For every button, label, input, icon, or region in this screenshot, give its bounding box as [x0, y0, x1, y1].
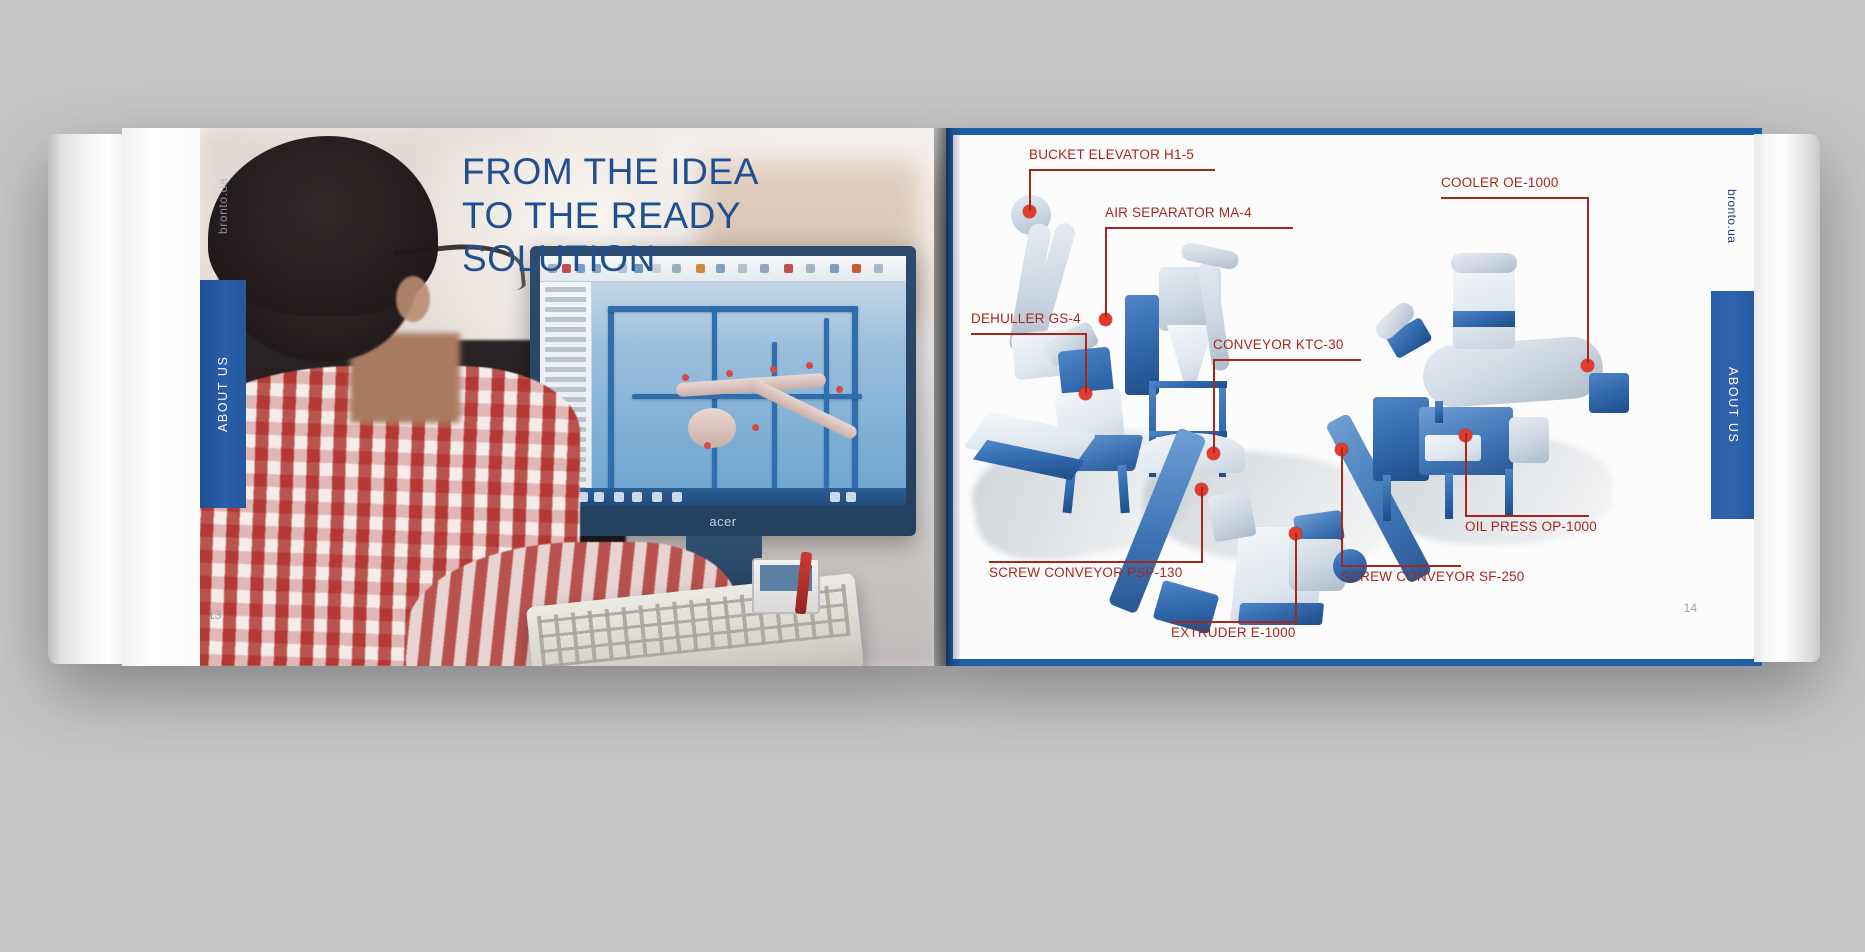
workstation-photo: acer FROM THE ID: [200, 128, 934, 666]
label-screw-conveyor-psp: SCREW CONVEYOR PSP-130: [989, 565, 1182, 580]
leader-screw-psp-h: [989, 561, 1203, 563]
leader-dehuller-v: [1085, 333, 1087, 393]
production-line-diagram: BUCKET ELEVATOR H1-5 AIR SEPARATOR MA-4 …: [953, 135, 1755, 659]
label-conveyor-ktc: CONVEYOR KTC-30: [1213, 337, 1344, 352]
page-title: FROM THE IDEA TO THE READY SOLUTION: [462, 150, 934, 281]
brand-watermark-right: bronto.ua: [1717, 161, 1747, 271]
label-oil-press: OIL PRESS OP-1000: [1465, 519, 1597, 534]
left-page-stack: [48, 134, 132, 664]
leader-bucket-elevator-v: [1029, 169, 1031, 211]
leader-screw-sf-h: [1341, 565, 1461, 567]
leader-conveyor-ktc-h: [1213, 359, 1361, 361]
leader-conveyor-ktc-v: [1213, 359, 1215, 453]
leader-dehuller-h: [971, 333, 1087, 335]
label-screw-conveyor-sf: SCREW CONVEYOR SF-250: [1341, 569, 1524, 584]
leader-extruder-v: [1295, 533, 1297, 621]
page-number-left: 13: [208, 608, 221, 622]
cad-taskbar: [540, 488, 906, 506]
screenshot-canvas: acer FROM THE ID: [0, 0, 1865, 952]
leader-cooler-v: [1587, 197, 1589, 363]
open-book-spread: acer FROM THE ID: [48, 128, 1820, 666]
label-extruder: EXTRUDER E-1000: [1171, 625, 1296, 640]
leader-extruder-h: [1171, 621, 1297, 623]
label-air-separator: AIR SEPARATOR MA-4: [1105, 205, 1252, 220]
leader-cooler-h: [1441, 197, 1589, 199]
right-page-surface: BUCKET ELEVATOR H1-5 AIR SEPARATOR MA-4 …: [953, 135, 1755, 659]
label-bucket-elevator: BUCKET ELEVATOR H1-5: [1029, 147, 1194, 162]
left-page: acer FROM THE ID: [122, 128, 934, 666]
leader-screw-sf-v: [1341, 447, 1343, 565]
leader-bucket-elevator-h: [1029, 169, 1215, 171]
leader-air-separator-v: [1105, 227, 1107, 317]
computer-monitor: acer: [530, 246, 916, 536]
page-title-line-2: TO THE READY SOLUTION: [462, 194, 934, 281]
leader-screw-psp-v: [1201, 487, 1203, 561]
leader-air-separator-h: [1105, 227, 1293, 229]
sidebar-tab-about-us-left-label: ABOUT US: [200, 280, 246, 508]
brand-watermark-left: bronto.ua: [204, 156, 242, 256]
sidebar-tab-about-us-right-label: ABOUT US: [1711, 291, 1755, 519]
leader-oil-press-v: [1465, 433, 1467, 515]
left-page-spine: [122, 128, 200, 666]
label-dehuller: DEHULLER GS-4: [971, 311, 1081, 326]
cad-3d-viewport: [592, 282, 906, 488]
page-title-line-1: FROM THE IDEA: [462, 150, 934, 194]
right-page-stack: [1754, 134, 1820, 662]
label-cooler: COOLER OE-1000: [1441, 175, 1559, 190]
book-spine: [934, 128, 960, 666]
page-number-right: 14: [1684, 601, 1697, 615]
monitor-brand-logo: acer: [709, 514, 736, 529]
monitor-screen: [540, 256, 906, 506]
leader-oil-press-h: [1465, 515, 1589, 517]
right-page: BUCKET ELEVATOR H1-5 AIR SEPARATOR MA-4 …: [946, 128, 1762, 666]
